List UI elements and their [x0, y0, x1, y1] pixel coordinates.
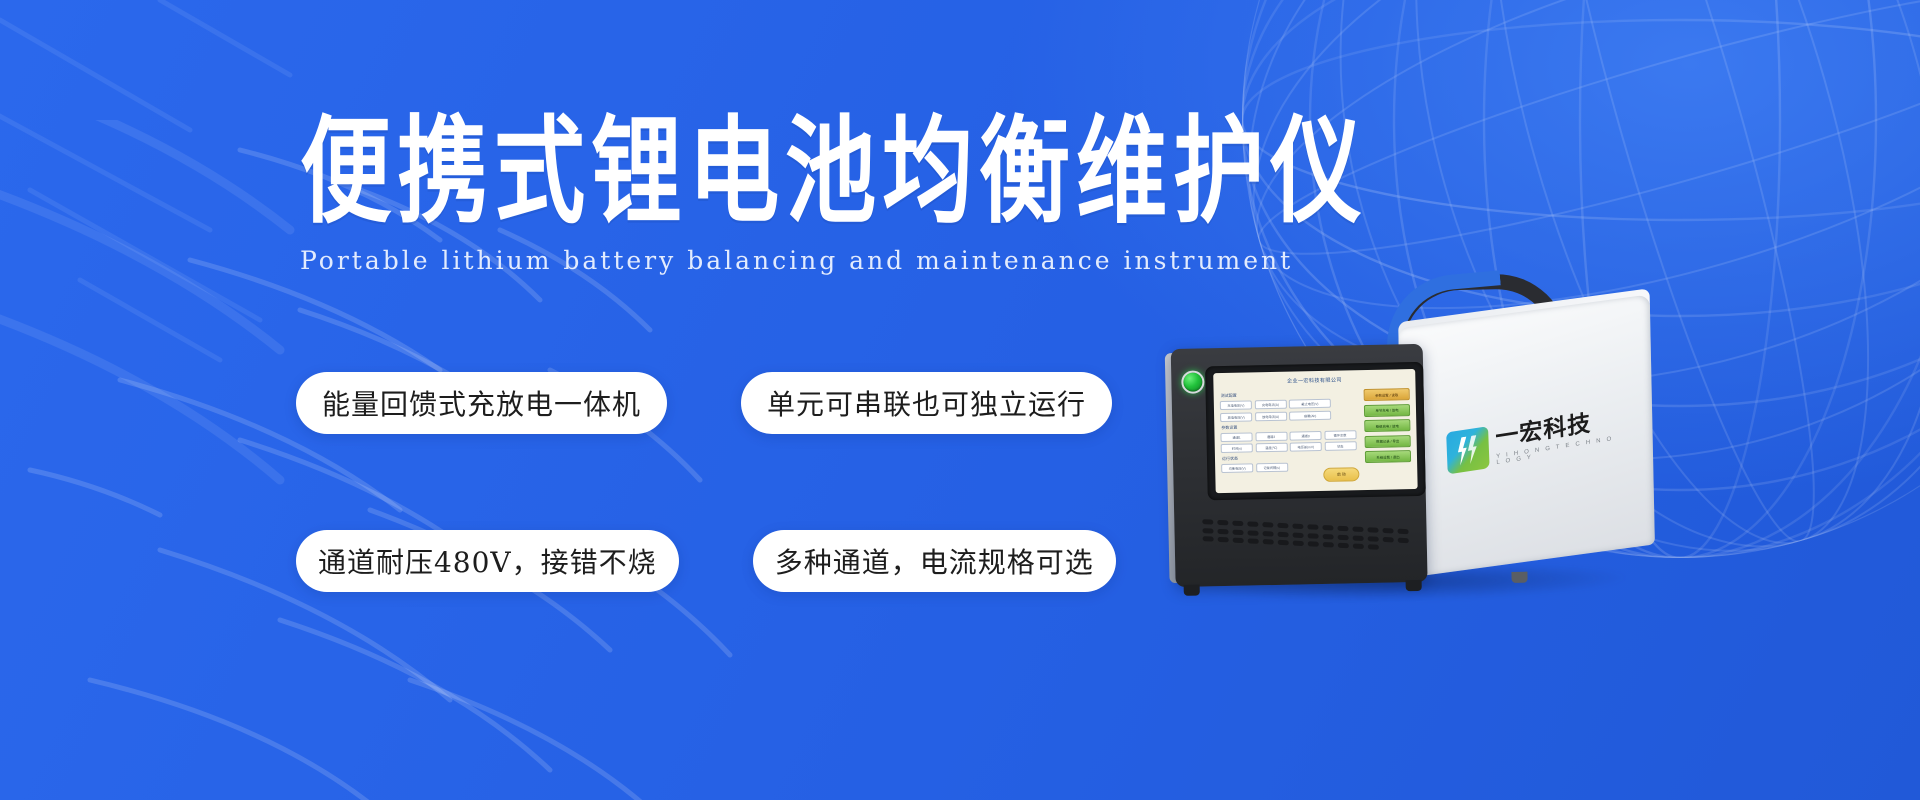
- screen-field[interactable]: 通道2: [1255, 431, 1287, 441]
- screen-field[interactable]: 均衡电压(V): [1221, 463, 1253, 473]
- screen-button-5[interactable]: 系统设置 / 退出: [1365, 450, 1411, 463]
- feature-pill-row: 能量回馈式充放电一体机 单元可串联也可独立运行: [296, 372, 1116, 434]
- screen-field[interactable]: 放电电流(A): [1255, 411, 1287, 421]
- screen-field[interactable]: 充电电压(V): [1220, 400, 1252, 410]
- screen-button-1[interactable]: 参数设置 / 读取: [1364, 388, 1410, 401]
- feature-pill-1[interactable]: 能量回馈式充放电一体机: [296, 372, 667, 434]
- promo-banner: 便携式锂电池均衡维护仪 Portable lithium battery bal…: [0, 0, 1920, 800]
- feature-pill-4[interactable]: 多种通道，电流规格可选: [753, 530, 1116, 592]
- screen-button-4[interactable]: 数据记录 / 导出: [1365, 435, 1411, 448]
- logo-mark: [1446, 426, 1489, 474]
- screen-field[interactable]: 放电电压(V): [1220, 412, 1252, 422]
- device-screen[interactable]: 企业一宏科技有限公司 测试配置 充电电压(V) 充电电流(A) 截止电压(V) …: [1213, 369, 1417, 493]
- screen-field[interactable]: 电压差(mV): [1290, 442, 1322, 452]
- ventilation-grille-icon: [1202, 519, 1413, 581]
- screen-field[interactable]: 充电电流(A): [1254, 400, 1286, 410]
- screen-field[interactable]: 循环次数: [1324, 430, 1356, 440]
- copy-block: 便携式锂电池均衡维护仪 Portable lithium battery bal…: [300, 112, 1360, 275]
- screen-field[interactable]: 截止电压(V): [1289, 399, 1331, 409]
- feature-pill-row: 通道耐压480V，接错不烧 多种通道，电流规格可选: [296, 530, 1116, 592]
- feature-pill-list: 能量回馈式充放电一体机 单元可串联也可独立运行 通道耐压480V，接错不烧 多种…: [296, 372, 1116, 592]
- screen-field[interactable]: 通道1: [1220, 432, 1252, 442]
- page-title: 便携式锂电池均衡维护仪: [300, 112, 1349, 233]
- device-front-panel: 企业一宏科技有限公司 测试配置 充电电压(V) 充电电流(A) 截止电压(V) …: [1171, 344, 1428, 587]
- feature-pill-3[interactable]: 通道耐压480V，接错不烧: [296, 530, 679, 592]
- screen-run-button[interactable]: 启 动: [1323, 467, 1359, 482]
- screen-field[interactable]: 温度(℃): [1255, 443, 1287, 453]
- screen-field[interactable]: 时间(s): [1221, 443, 1253, 453]
- screen-field[interactable]: 状态: [1324, 441, 1356, 451]
- screen-button-3[interactable]: 整组充电 / 放电: [1364, 419, 1410, 432]
- screen-field[interactable]: 通道3: [1289, 430, 1321, 440]
- product-device-image: 一宏科技 Y I H O N G T E C H N O L O G Y 企业一…: [1152, 287, 1679, 628]
- screen-field[interactable]: 记录间隔(s): [1256, 463, 1288, 473]
- screen-field[interactable]: 容量(Ah): [1289, 410, 1331, 420]
- power-indicator-icon[interactable]: [1181, 370, 1204, 393]
- feature-pill-2[interactable]: 单元可串联也可独立运行: [741, 372, 1112, 434]
- page-subtitle: Portable lithium battery balancing and m…: [300, 246, 1360, 275]
- screen-bezel: 企业一宏科技有限公司 测试配置 充电电压(V) 充电电流(A) 截止电压(V) …: [1205, 362, 1426, 501]
- screen-button-2[interactable]: 单节充电 / 放电: [1364, 404, 1410, 417]
